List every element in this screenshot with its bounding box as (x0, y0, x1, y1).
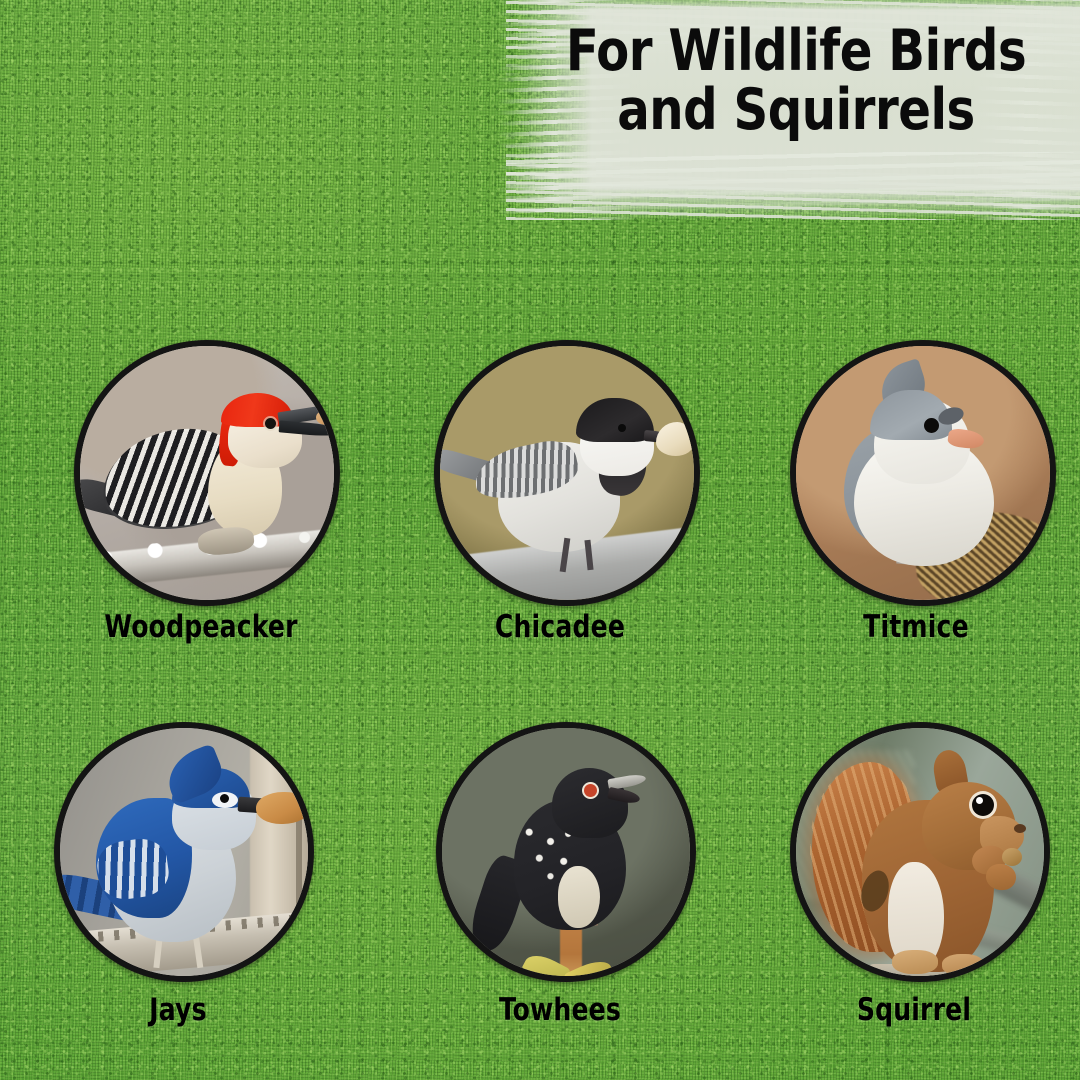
titmouse-photo-circle (790, 340, 1056, 606)
titmouse-photo (796, 346, 1050, 600)
woodpecker-photo-circle (74, 340, 340, 606)
chickadee-peanut (656, 422, 694, 456)
squirrel-nose (1014, 824, 1026, 833)
chickadee-photo-circle (434, 340, 700, 606)
towhee-red-eye (584, 784, 597, 797)
squirrel-eye (972, 794, 994, 816)
squirrel-foot-right (942, 954, 984, 976)
towhee-photo (442, 728, 690, 976)
headline-text: For Wildlife Birds and Squirrels (523, 22, 1068, 139)
chickadee-photo (440, 346, 694, 600)
jay-photo (60, 728, 308, 976)
squirrel-photo-circle (790, 722, 1050, 982)
squirrel-eye-glint (976, 797, 983, 804)
headline-line-1: For Wildlife Birds (566, 18, 1026, 84)
caption-squirrel: Squirrel (743, 992, 1080, 1028)
jay-peanut (256, 792, 308, 824)
headline-line-2: and Squirrels (523, 81, 1068, 140)
chickadee-eye (618, 424, 626, 432)
towhee-belly (558, 866, 600, 928)
caption-jay: Jays (7, 992, 349, 1028)
product-lifestyle-image: For Wildlife Birds and Squirrels (0, 0, 1080, 1080)
woodpecker-photo (80, 346, 334, 600)
caption-woodpecker: Woodpeacker (30, 609, 372, 645)
woodpecker-seed (316, 410, 334, 425)
caption-chickadee: Chicadee (389, 609, 731, 645)
woodpecker-eye (265, 418, 276, 429)
jay-photo-circle (54, 722, 314, 982)
caption-titmouse: Titmice (745, 609, 1080, 645)
jay-eye (220, 794, 229, 803)
peanut-on-board (440, 542, 460, 562)
squirrel-photo (796, 728, 1044, 976)
headline-banner: For Wildlife Birds and Squirrels (506, 0, 1080, 220)
caption-towhee: Towhees (389, 992, 731, 1028)
titmouse-eye (924, 418, 939, 433)
towhee-photo-circle (436, 722, 696, 982)
squirrel-foot-left (892, 950, 938, 974)
squirrel-nut (1002, 848, 1022, 866)
